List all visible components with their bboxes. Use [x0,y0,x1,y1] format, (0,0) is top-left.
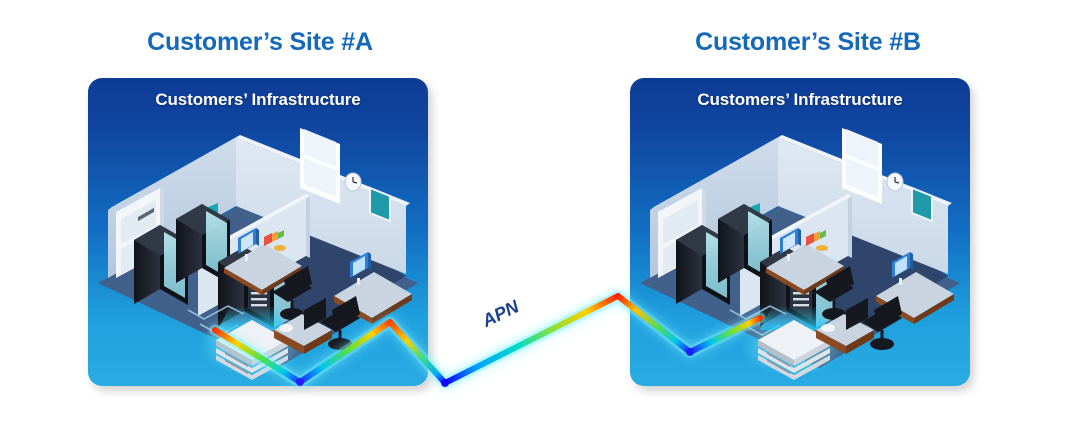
site-a-title: Customer’s Site #A [100,28,420,57]
site-b-scene [630,78,970,386]
wall-clock [887,173,903,191]
diagram-canvas: Customer’s Site #A Customer’s Site #B Cu… [0,0,1070,448]
wall-clock [345,173,361,191]
site-b-title: Customer’s Site #B [648,28,968,57]
site-b-panel: Customers’ Infrastructure [630,78,970,386]
site-a-panel: Customers’ Infrastructure [88,78,428,386]
apn-label: APN [479,296,522,332]
site-a-scene [88,78,428,386]
